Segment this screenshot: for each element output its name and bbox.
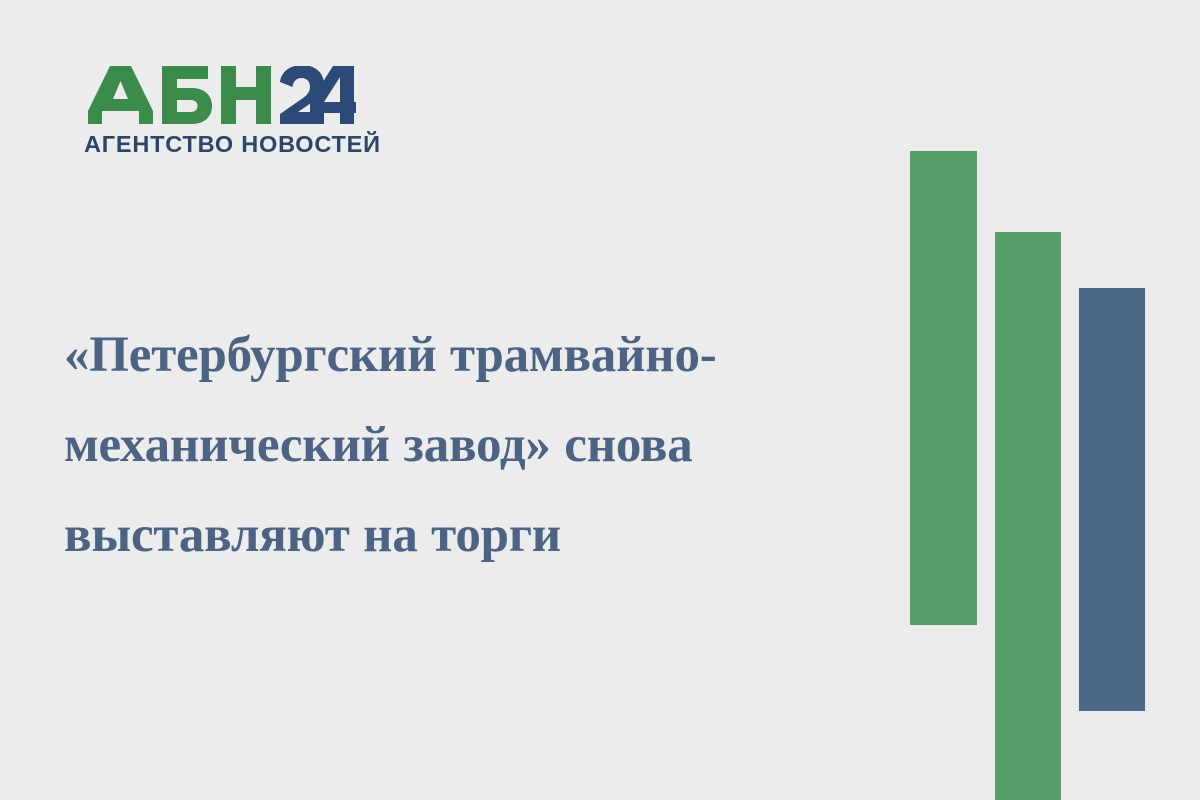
logo-wordmark-icon (84, 66, 356, 126)
chart-bar-3 (1079, 288, 1145, 711)
logo-subtitle: АГЕНТСТВО НОВОСТЕЙ (84, 133, 364, 157)
chart-bar-1 (910, 151, 977, 625)
headline-text: «Петербургский трамвайно-механический за… (64, 310, 884, 580)
news-card: АГЕНТСТВО НОВОСТЕЙ «Петербургский трамва… (0, 0, 1200, 800)
brand-logo[interactable]: АГЕНТСТВО НОВОСТЕЙ (84, 66, 364, 157)
chart-bar-2 (995, 232, 1061, 800)
